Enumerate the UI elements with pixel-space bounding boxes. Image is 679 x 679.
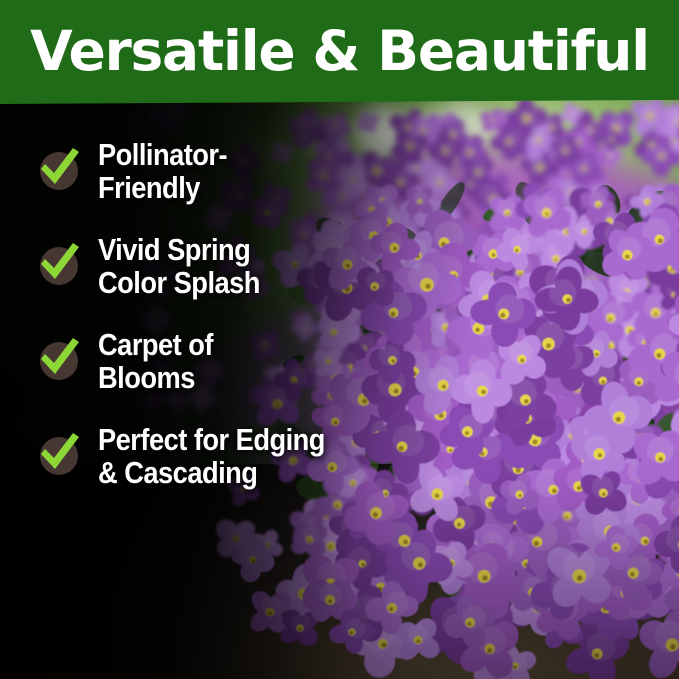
check-icon bbox=[36, 336, 82, 382]
header-banner: Versatile & Beautiful bbox=[0, 0, 679, 104]
check-icon-glyph bbox=[36, 241, 82, 287]
check-icon-glyph bbox=[36, 336, 82, 382]
check-icon bbox=[36, 146, 82, 192]
feature-item-carpet-of-blooms: Carpet of Blooms bbox=[36, 328, 420, 394]
check-icon bbox=[36, 241, 82, 287]
feature-item-perfect-for-edging-cascading: Perfect for Edging & Cascading bbox=[36, 423, 420, 489]
check-icon-glyph bbox=[36, 146, 82, 192]
feature-label: Pollinator- Friendly bbox=[98, 138, 227, 204]
check-icon-glyph bbox=[36, 431, 82, 477]
check-icon bbox=[36, 431, 82, 477]
product-feature-card: Versatile & Beautiful Pollinator- Friend… bbox=[0, 0, 679, 679]
feature-list: Pollinator- Friendly Vivid Spring Color … bbox=[0, 104, 420, 589]
feature-label: Vivid Spring Color Splash bbox=[98, 233, 260, 299]
feature-label: Carpet of Blooms bbox=[98, 328, 213, 394]
feature-item-pollinator-friendly: Pollinator- Friendly bbox=[36, 138, 420, 204]
feature-label: Perfect for Edging & Cascading bbox=[98, 423, 325, 489]
page-title: Versatile & Beautiful bbox=[0, 20, 679, 82]
feature-item-vivid-spring-color-splash: Vivid Spring Color Splash bbox=[36, 233, 420, 299]
